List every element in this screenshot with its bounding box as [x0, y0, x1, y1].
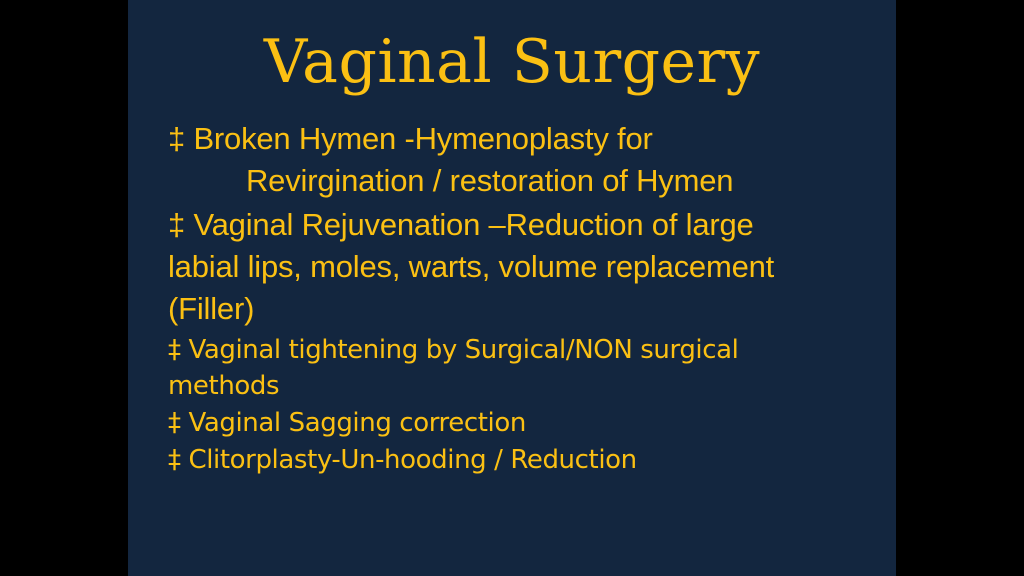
bullet-line: ‡ Clitorplasty-Un-hooding / Reduction [168, 442, 896, 478]
list-item: ‡ Vaginal tightening by Surgical/NON sur… [168, 332, 896, 404]
bullet-line: labial lips, moles, warts, volume replac… [168, 246, 896, 288]
bullet-line: ‡ Vaginal tightening by Surgical/NON sur… [168, 332, 896, 368]
presentation-slide: Vaginal Surgery ‡ Broken Hymen -Hymenopl… [128, 0, 896, 576]
bullet-line: methods [168, 368, 896, 404]
bullet-line: ‡ Vaginal Sagging correction [168, 405, 896, 441]
list-item: ‡ Broken Hymen -Hymenoplasty for Revirgi… [168, 118, 896, 202]
presentation-letterbox-frame: Vaginal Surgery ‡ Broken Hymen -Hymenopl… [0, 0, 1024, 576]
list-item: ‡ Vaginal Sagging correction [168, 405, 896, 441]
list-item: ‡ Clitorplasty-Un-hooding / Reduction [168, 442, 896, 478]
bullet-line: Revirgination / restoration of Hymen [168, 160, 896, 202]
bullet-line: ‡ Broken Hymen -Hymenoplasty for [168, 118, 896, 160]
bullet-line: (Filler) [168, 288, 896, 330]
bullet-line: ‡ Vaginal Rejuvenation –Reduction of lar… [168, 204, 896, 246]
page-title: Vaginal Surgery [128, 28, 896, 96]
bullet-list: ‡ Broken Hymen -Hymenoplasty for Revirgi… [168, 118, 896, 478]
list-item: ‡ Vaginal Rejuvenation –Reduction of lar… [168, 204, 896, 330]
